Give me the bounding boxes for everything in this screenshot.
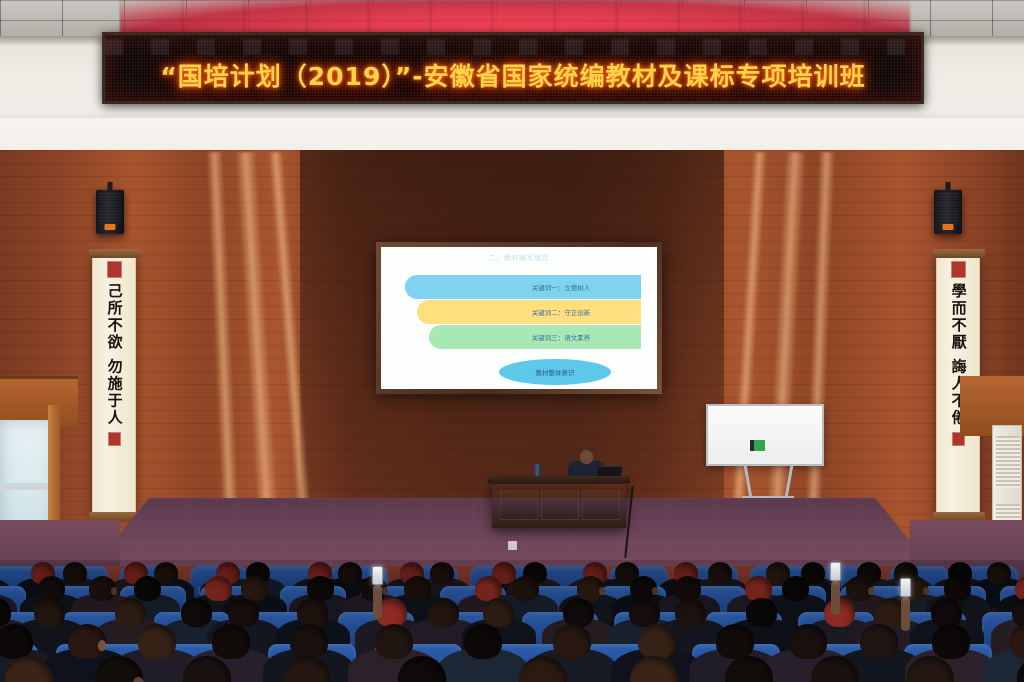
ceiling-red-accent-light: [120, 0, 910, 34]
audience-member-ear: [868, 587, 874, 595]
slide-band-2-label: 关键词二：守正创新: [481, 307, 641, 317]
audience-member-head: [860, 624, 898, 659]
speaker-mount-arm: [946, 182, 951, 192]
slide-band-3: 关键词三：语文素养: [429, 325, 641, 349]
led-banner-text: “国培计划（2019）”-安徽省国家统编教材及课标专项培训班: [105, 57, 921, 93]
audience-member-head: [134, 576, 161, 601]
ac-vent-upper: [996, 436, 1020, 488]
audience-member-head: [63, 562, 87, 584]
desk-panel-2: [541, 490, 579, 520]
slide-summary-label: 教材整体意识: [536, 367, 575, 377]
audience-member-head: [212, 624, 250, 659]
mobile-whiteboard: [706, 404, 824, 466]
audience-member-head: [404, 576, 431, 601]
slide-band-1: 关键词一：立德树人: [405, 275, 641, 299]
desk-panel-1: [500, 490, 538, 520]
audience-member-head: [338, 562, 362, 584]
audience-smartphone: [830, 562, 841, 581]
audience-member-head: [483, 598, 514, 627]
audience-smartphone: [900, 578, 911, 597]
audience-member-head: [708, 562, 732, 584]
audience-member-head: [181, 598, 212, 627]
audience-member-head: [430, 562, 454, 584]
scroll-rod-top: [89, 249, 141, 258]
wall-speaker-left: [96, 190, 124, 234]
audience-member-head: [563, 598, 594, 627]
slide-title: 二、教材编写理念: [381, 253, 657, 263]
audience-member-head: [0, 624, 33, 659]
audience-member-head: [746, 598, 777, 627]
projection-screen-surface: 二、教材编写理念 关键词一：立德树人 关键词二：守正创新 关键词三：语文素养 教…: [381, 247, 657, 389]
audience-member-head: [205, 576, 232, 601]
left-wall-header-panel: [0, 376, 78, 426]
auditorium-scene: “国培计划（2019）”-安徽省国家统编教材及课标专项培训班 二、教材编写理念 …: [0, 0, 1024, 682]
scroll-seal-top: [951, 261, 966, 278]
led-pixel-noise: [105, 39, 921, 55]
slide-summary-ellipse: 教材整体意识: [499, 359, 611, 385]
audience-member-head: [428, 598, 459, 627]
slide-band-1-label: 关键词一：立德树人: [481, 282, 641, 292]
speaker-brand-logo: [943, 224, 954, 230]
audience-member-head: [290, 624, 328, 659]
audience-member-ear: [98, 640, 106, 651]
slide-band-3-label: 关键词三：语文素养: [481, 332, 641, 342]
audience-member-head: [716, 624, 754, 659]
audience-member-head: [512, 576, 539, 601]
scroll-seal-bottom: [108, 432, 121, 446]
audience-member-head: [675, 598, 706, 627]
audience-member-head: [987, 562, 1011, 584]
audience-member-head: [464, 624, 502, 659]
audience-member-head: [932, 624, 970, 659]
stage-floor-object: [508, 541, 517, 550]
audience-member-head: [115, 598, 146, 627]
speaker-mount-arm: [108, 182, 113, 192]
audience-raised-arm: [901, 597, 910, 631]
audience-raised-arm: [831, 581, 840, 615]
audience-raised-arm: [373, 585, 382, 619]
audience-member-head: [228, 598, 259, 627]
speaker-brand-logo: [105, 224, 116, 230]
audience-member-head: [375, 624, 413, 659]
audience-member-head: [789, 624, 827, 659]
desk-panel-3: [582, 490, 620, 520]
slide-keyword-bands: 关键词一：立德树人 关键词二：守正创新 关键词三：语文素养: [405, 275, 641, 349]
scroll-seal-top: [107, 261, 122, 278]
projection-screen-frame: 二、教材编写理念 关键词一：立德树人 关键词二：守正创新 关键词三：语文素养 教…: [376, 242, 662, 394]
audience-member-head: [782, 576, 809, 601]
presenter-desk: [492, 478, 626, 528]
scroll-rod-top: [933, 249, 985, 258]
presenter-head: [580, 450, 593, 464]
whiteboard-marker-icon: [754, 440, 765, 451]
audience-member-ear: [599, 587, 605, 595]
audience-member-ear: [652, 587, 658, 595]
audience-member-head: [931, 598, 962, 627]
audience-smartphone: [372, 566, 383, 585]
audience-member-head: [629, 598, 660, 627]
led-banner: “国培计划（2019）”-安徽省国家统编教材及课标专项培训班: [102, 32, 924, 104]
audience-member-head: [638, 624, 676, 659]
audience-member-ear: [923, 587, 929, 595]
audience-member-ear: [382, 587, 388, 595]
audience-member-head: [138, 624, 176, 659]
scroll-left-text: 己所不欲 勿施于人: [104, 283, 123, 426]
audience-member-head: [553, 624, 591, 659]
audience-member-ear: [111, 587, 117, 595]
audience-seating: [0, 560, 1024, 682]
wall-speaker-right: [934, 190, 962, 234]
audience-member-head: [297, 598, 328, 627]
calligraphy-scroll-left: 己所不欲 勿施于人: [92, 254, 136, 516]
slide-band-2: 关键词二：守正创新: [417, 300, 641, 324]
audience-member-head: [34, 598, 65, 627]
